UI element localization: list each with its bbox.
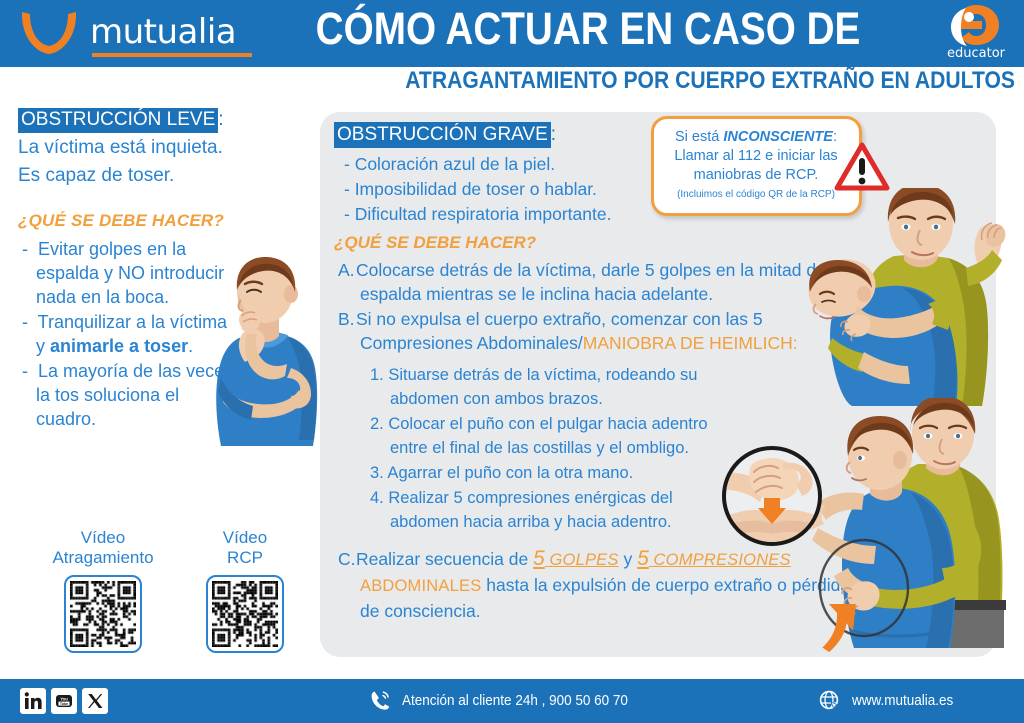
qr-block-rcp[interactable]: Vídeo RCP	[180, 528, 310, 653]
linkedin-icon[interactable]	[20, 688, 46, 714]
alert-line2: Llamar al 112 e iniciar las	[674, 148, 837, 164]
step-c-emphasis-1-word: GOLPES	[545, 551, 619, 569]
qr-block-atragamiento[interactable]: Vídeo Atragamiento	[38, 528, 168, 653]
severe-steps-list: A.Colocarse detrás de la víctima, darle …	[334, 258, 854, 355]
list-item: 3. Agarrar el puño con la otra mano.	[368, 461, 720, 485]
mutualia-wordmark: mutualia	[90, 12, 236, 52]
step-c-emphasis-2-number: 5	[637, 547, 649, 570]
alert-line1-bold: INCONSCIENTE	[723, 129, 833, 145]
mild-obstruction-heading-row: OBSTRUCCIÓN LEVE:	[18, 108, 318, 133]
qr-caption-line1: Vídeo	[38, 528, 168, 548]
heimlich-maneuver-illustration	[798, 398, 1024, 660]
list-item: 4. Realizar 5 compresiones enérgicas del…	[368, 486, 720, 534]
customer-service-info: Atención al cliente 24h , 900 50 60 70	[368, 689, 653, 713]
mutualia-swoosh-icon	[18, 9, 84, 57]
list-item: A.Colocarse detrás de la víctima, darle …	[334, 258, 854, 306]
qr-caption-line2: Atragamiento	[38, 548, 168, 568]
step-c-mid: y	[619, 549, 637, 569]
mild-line-1: La víctima está inquieta.	[18, 135, 318, 161]
warning-triangle-icon	[834, 141, 890, 193]
alert-line1-pre: Si está	[675, 129, 723, 145]
step-highlight: MANIOBRA DE HEIMLICH:	[583, 333, 798, 353]
severe-question-heading: ¿QUÉ SE DEBE HACER?	[334, 233, 854, 253]
fist-position-detail-illustration	[718, 444, 826, 548]
step-c: C.Realizar secuencia de 5 GOLPES y 5 COM…	[334, 546, 854, 624]
list-item: 1. Situarse detrás de la víctima, rodean…	[368, 363, 720, 411]
svg-text:Tube: Tube	[60, 702, 68, 706]
alert-line3: maniobras de RCP.	[694, 167, 819, 183]
qr-caption-line2: RCP	[180, 548, 310, 568]
step-label: A.	[338, 258, 356, 282]
list-item: B.Si no expulsa el cuerpo extraño, comen…	[334, 307, 854, 355]
back-blows-illustration	[786, 188, 1024, 406]
severe-heading-colon: :	[551, 124, 556, 145]
page-subtitle: ATRAGANTAMIENTO POR CUERPO EXTRAÑO EN AD…	[285, 68, 1015, 94]
person-coughing-illustration	[195, 250, 335, 450]
step-c-emphasis-1-number: 5	[533, 547, 545, 570]
phone-icon	[368, 689, 392, 713]
mild-obstruction-heading: OBSTRUCCIÓN LEVE	[18, 108, 218, 133]
social-links: You Tube	[20, 688, 108, 714]
qr-code-icon[interactable]	[206, 575, 284, 653]
step-c-emphasis-2-word: COMPRESIONES	[649, 551, 791, 569]
educator-e-icon	[936, 2, 1016, 48]
qr-canvas	[212, 581, 278, 647]
mild-question-heading: ¿QUÉ SE DEBE HACER?	[18, 211, 318, 231]
educator-logo: educator	[936, 2, 1016, 64]
footer-bar: You Tube Atención al cliente 24h , 900 5…	[0, 679, 1024, 723]
website-text: www.mutualia.es	[852, 689, 953, 713]
globe-icon	[818, 689, 842, 713]
qr-code-icon[interactable]	[64, 575, 142, 653]
educator-wordmark: educator	[936, 46, 1016, 61]
step-text: Colocarse detrás de la víctima, darle 5 …	[356, 260, 844, 304]
list-item: 2. Colocar el puño con el pulgar hacia a…	[368, 412, 720, 460]
qr-canvas	[70, 581, 136, 647]
svg-text:You: You	[60, 696, 68, 701]
logo-underline	[92, 53, 252, 57]
bullet-bold: animarle a toser	[50, 336, 188, 356]
header-bar: mutualia CÓMO ACTUAR EN CASO DE educator	[0, 0, 1024, 67]
bullet-post: .	[188, 336, 193, 356]
youtube-icon[interactable]: You Tube	[51, 688, 77, 714]
customer-service-text: Atención al cliente 24h , 900 50 60 70	[402, 689, 628, 713]
severe-obstruction-heading: OBSTRUCCIÓN GRAVE	[334, 122, 551, 148]
step-label: B.	[338, 307, 356, 331]
qr-caption-line1: Vídeo	[180, 528, 310, 548]
step-c-emphasis-3: ABDOMINALES	[360, 577, 481, 595]
x-twitter-icon[interactable]	[82, 688, 108, 714]
infographic-page: mutualia CÓMO ACTUAR EN CASO DE educator…	[0, 0, 1024, 723]
mild-heading-colon: :	[218, 109, 223, 130]
step-c-part1: Realizar secuencia de	[356, 549, 533, 569]
website-info[interactable]: www.mutualia.es	[818, 689, 965, 713]
mutualia-logo: mutualia	[18, 7, 258, 60]
alert-message: Si está INCONSCIENTE: Llamar al 112 e in…	[662, 128, 850, 185]
page-title: CÓMO ACTUAR EN CASO DE	[304, 2, 872, 56]
step-label: C.	[338, 547, 356, 572]
mild-line-2: Es capaz de toser.	[18, 163, 318, 189]
